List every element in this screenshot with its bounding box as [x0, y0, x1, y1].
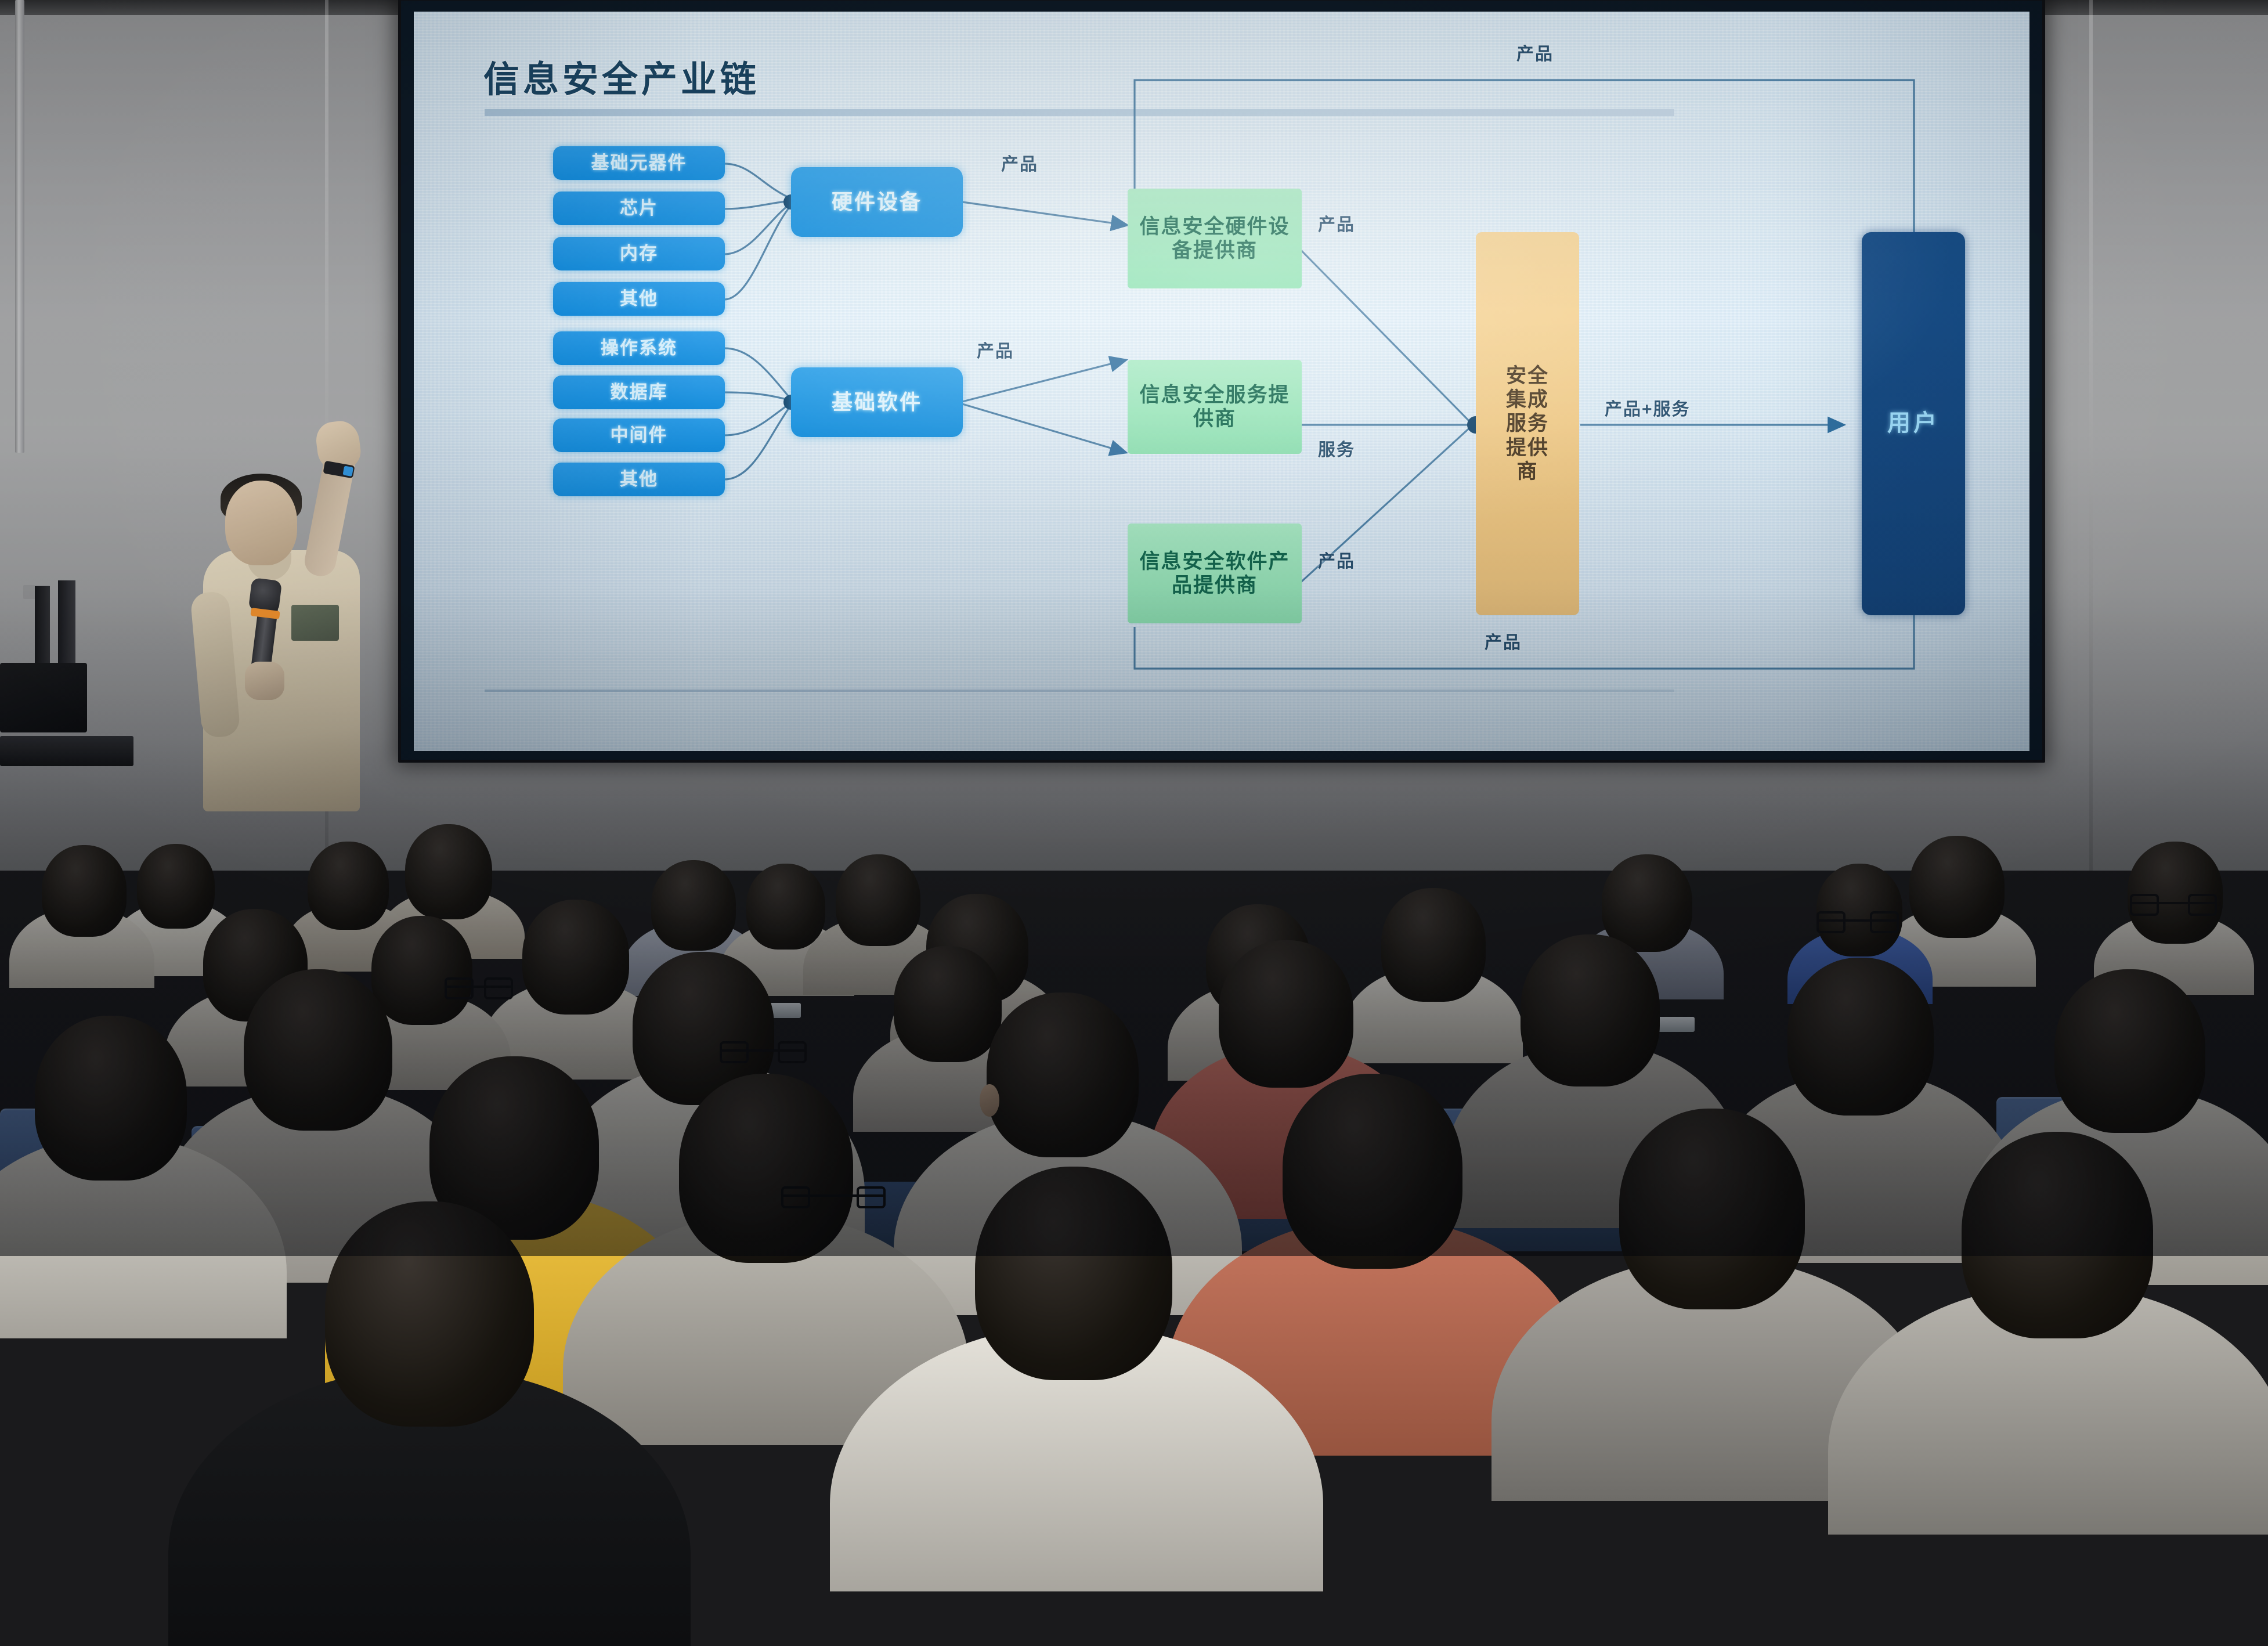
audience-member	[325, 1201, 540, 1445]
audience-member	[1619, 1109, 1811, 1328]
edge-label-sw-product: 产品	[977, 337, 1014, 362]
input-node[interactable]: 操作系统	[553, 331, 725, 365]
hub-node-hardware[interactable]: 硬件设备	[791, 167, 963, 237]
head	[35, 1016, 187, 1181]
head	[987, 992, 1139, 1157]
audience-member	[1909, 836, 2008, 950]
head	[1816, 864, 1902, 956]
edge-label-hwprov-product: 产品	[1318, 210, 1355, 236]
head	[975, 1167, 1172, 1380]
provider-node-service[interactable]: 信息安全服务提供商	[1128, 360, 1302, 454]
glasses	[720, 1049, 807, 1052]
glasses	[2130, 902, 2217, 904]
head	[1381, 888, 1486, 1002]
audience-member	[1521, 934, 1666, 1102]
audience-member	[1283, 1074, 1468, 1286]
head	[2054, 969, 2205, 1133]
input-node[interactable]: 中间件	[553, 418, 725, 452]
head	[1909, 836, 2005, 938]
audience	[0, 586, 2268, 1256]
audience-member	[522, 900, 633, 1027]
audience-member	[975, 1167, 1178, 1399]
head	[244, 969, 392, 1131]
head	[1787, 958, 1934, 1116]
consumer-node-user[interactable]: 用户	[1862, 232, 1965, 615]
glasses	[445, 986, 513, 988]
audience-member	[244, 969, 398, 1146]
provider-node-hardware[interactable]: 信息安全硬件设备提供商	[1128, 189, 1302, 288]
audience-member	[1962, 1132, 2159, 1358]
glasses	[781, 1194, 886, 1197]
screenshot-stage: 信息安全产业链	[0, 0, 2268, 1256]
head	[325, 1201, 534, 1427]
head	[894, 946, 1002, 1062]
integrator-line: 安全	[1506, 364, 1549, 388]
audience-member	[2128, 842, 2226, 955]
presenter-head	[225, 481, 297, 565]
audience-member	[35, 1016, 192, 1197]
audience-member	[1381, 888, 1489, 1013]
input-node[interactable]: 其他	[553, 282, 725, 316]
integrator-line: 提供	[1506, 436, 1549, 460]
audience-member	[836, 854, 923, 961]
head	[746, 864, 825, 950]
head	[836, 854, 920, 946]
audience-member	[679, 1074, 859, 1280]
hub-node-software[interactable]: 基础软件	[791, 367, 963, 437]
input-node[interactable]: 基础元器件	[553, 146, 725, 180]
head	[1283, 1074, 1462, 1269]
input-node[interactable]: 其他	[553, 463, 725, 496]
integrator-line: 集成	[1506, 388, 1549, 411]
head	[679, 1074, 853, 1263]
edge-label-bypass-top: 产品	[1516, 39, 1554, 65]
input-node[interactable]: 内存	[553, 237, 725, 270]
head	[42, 845, 127, 937]
edge-label-svcprov-service: 服务	[1318, 435, 1355, 461]
input-node[interactable]: 芯片	[553, 192, 725, 225]
integrator-line: 服务	[1506, 411, 1549, 435]
edge-label-integrator-user: 产品+服务	[1605, 395, 1691, 420]
audience-member	[987, 992, 1143, 1174]
integrator-line: 商	[1516, 460, 1538, 483]
audience-member	[1787, 958, 1938, 1132]
glasses	[1816, 919, 1899, 922]
ear	[980, 1084, 999, 1117]
audience-member	[42, 845, 129, 950]
head	[522, 900, 629, 1015]
head	[2128, 842, 2223, 944]
wall-pipe	[15, 0, 24, 453]
audience-member	[651, 860, 738, 965]
head	[1521, 934, 1660, 1086]
head	[1962, 1132, 2153, 1338]
edge-label-swprov-product: 产品	[1318, 547, 1355, 572]
head	[1219, 940, 1353, 1088]
head	[651, 860, 736, 951]
head	[1619, 1109, 1805, 1309]
integrator-node[interactable]: 安全 集成 服务 提供 商	[1476, 232, 1579, 615]
input-node[interactable]: 数据库	[553, 376, 725, 409]
audience-member	[2054, 969, 2211, 1149]
edge-label-hw-product: 产品	[1001, 150, 1038, 175]
audience-member	[1816, 864, 1904, 969]
head	[405, 824, 492, 919]
